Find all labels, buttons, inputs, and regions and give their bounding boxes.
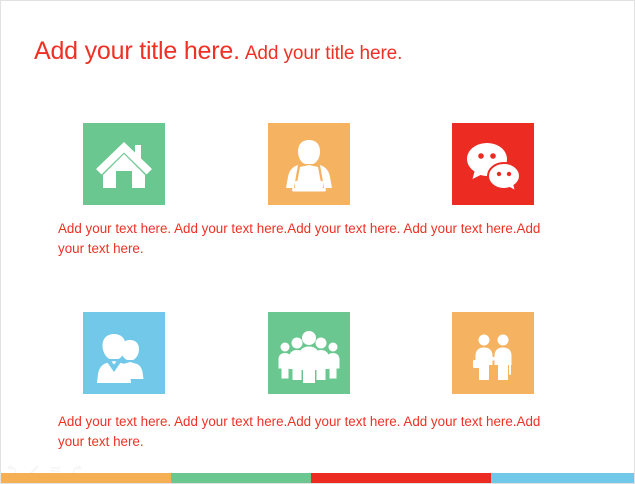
icon-row-bottom <box>1 312 635 394</box>
footer-bar-segment-orange <box>1 473 171 483</box>
footer-bar-segment-red <box>311 473 491 483</box>
house-icon <box>83 123 165 205</box>
people-group-icon <box>268 312 350 394</box>
title-sub-text: Add your title here. <box>245 43 402 64</box>
page-title: Add your title here.Add your title here. <box>34 37 402 66</box>
chat-bubbles-icon <box>452 123 534 205</box>
footer-bar-segment-green <box>171 473 311 483</box>
icon-tile-chat-bubbles[interactable] <box>452 123 534 205</box>
person-laptop-icon <box>268 123 350 205</box>
couple-holding-hands-icon <box>452 312 534 394</box>
icon-tile-couple-holding-hands[interactable] <box>452 312 534 394</box>
footer-bar-segment-blue <box>491 473 635 483</box>
slide-canvas: Add your title here.Add your title here. <box>0 0 635 484</box>
two-people-icon <box>83 312 165 394</box>
icon-tile-people-group[interactable] <box>268 312 350 394</box>
icon-tile-person-laptop[interactable] <box>268 123 350 205</box>
footer-color-bar <box>1 473 635 483</box>
icon-tile-two-people[interactable] <box>83 312 165 394</box>
body-paragraph-top: Add your text here. Add your text here.A… <box>58 219 550 259</box>
body-paragraph-bottom: Add your text here. Add your text here.A… <box>58 412 550 452</box>
title-main-text: Add your title here. <box>34 37 240 65</box>
icon-tile-house[interactable] <box>83 123 165 205</box>
icon-row-top <box>1 123 635 205</box>
